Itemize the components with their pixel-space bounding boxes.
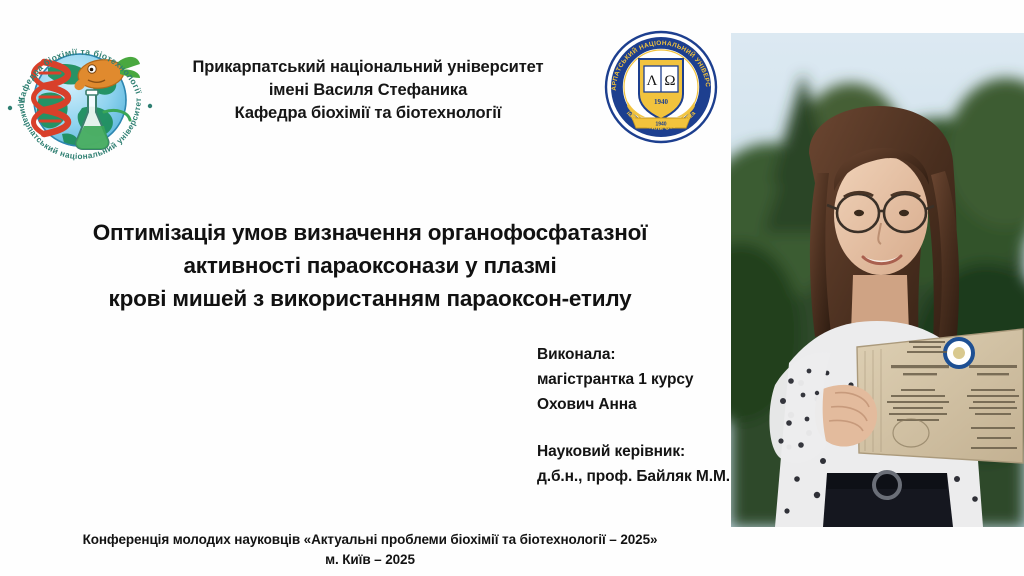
footer-conference-name: Конференція молодих науковців «Актуальні… — [30, 530, 710, 550]
title-line-2: активності параоксонази у плазмі — [32, 249, 708, 282]
title-line-3: крові мишей з використанням параоксон-ет… — [32, 282, 708, 315]
header-block: Прикарпатський національний університет … — [168, 56, 568, 125]
presentation-title: Оптимізація умов визначення органофосфат… — [32, 216, 708, 315]
department-logo: Кафедра біохімії та біотехнології Прикар… — [4, 16, 156, 174]
photo-face — [834, 155, 928, 275]
author-photo — [731, 33, 1024, 527]
footer-location-year: м. Київ – 2025 — [30, 550, 710, 570]
seal-letter-lambda: Λ — [647, 73, 658, 89]
seal-letter-omega: Ω — [664, 73, 675, 89]
university-seal-logo: Λ Ω 1940 1940 ПРИКАРПАТСЬКИЙ НАЦІОНАЛЬНИ… — [602, 26, 720, 148]
shield-icon: Λ Ω 1940 — [639, 59, 683, 119]
photo-eye-left — [854, 210, 864, 216]
photo-diploma — [857, 329, 1023, 463]
photo-eye-right — [899, 210, 909, 216]
footer-block: Конференція молодих науковців «Актуальні… — [30, 530, 710, 570]
seal-founded-year: 1940 — [654, 98, 669, 106]
header-line-department: Кафедра біохімії та біотехнології — [168, 102, 568, 125]
title-line-1: Оптимізація умов визначення органофосфат… — [32, 216, 708, 249]
header-line-patron: імені Василя Стефаника — [168, 79, 568, 102]
slide-root: Кафедра біохімії та біотехнології Прикар… — [0, 0, 1024, 576]
header-line-university: Прикарпатський національний університет — [168, 56, 568, 79]
